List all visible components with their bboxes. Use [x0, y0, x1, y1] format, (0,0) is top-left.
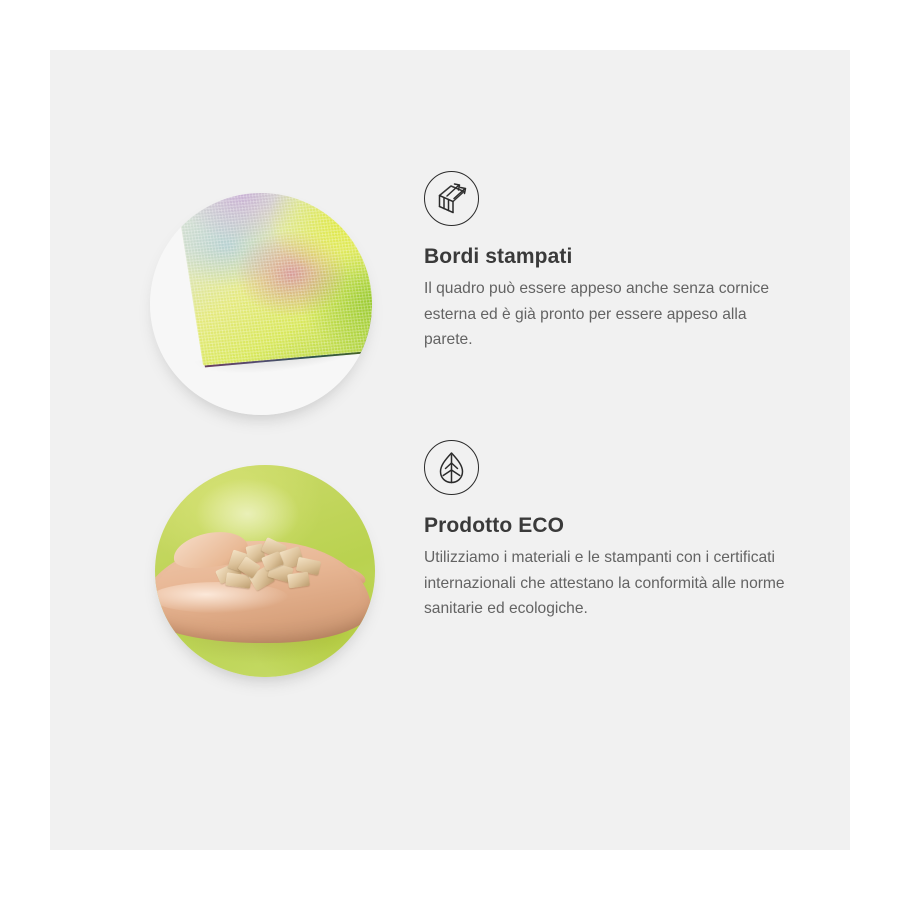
wood-chip: [287, 571, 309, 588]
wood-chip-pile: [212, 537, 326, 601]
feature-title: Prodotto ECO: [424, 513, 804, 539]
feature-block-printed-edges: Bordi stampati Il quadro può essere appe…: [50, 145, 850, 415]
canvas-corner-photo: [150, 193, 372, 415]
content-panel: Bordi stampati Il quadro può essere appe…: [50, 50, 850, 850]
canvas-printed-face: [173, 193, 372, 365]
wood-chips-hands-photo: [155, 465, 375, 677]
printed-edges-icon: [424, 171, 479, 226]
feature-text-eco-product: Prodotto ECO Utilizziamo i materiali e l…: [424, 440, 804, 621]
feature-title: Bordi stampati: [424, 244, 804, 270]
canvas-photo-canvas: [150, 193, 372, 415]
feature-text-printed-edges: Bordi stampati Il quadro può essere appe…: [424, 171, 804, 352]
feature-description: Il quadro può essere appeso anche senza …: [424, 276, 794, 352]
feature-block-eco-product: Prodotto ECO Utilizziamo i materiali e l…: [50, 430, 850, 700]
feature-description: Utilizziamo i materiali e le stampanti c…: [424, 545, 794, 621]
eco-photo-canvas: [155, 465, 375, 677]
canvas-weave-texture: [173, 193, 372, 365]
page-root: Bordi stampati Il quadro può essere appe…: [0, 0, 900, 900]
leaf-icon: [424, 440, 479, 495]
